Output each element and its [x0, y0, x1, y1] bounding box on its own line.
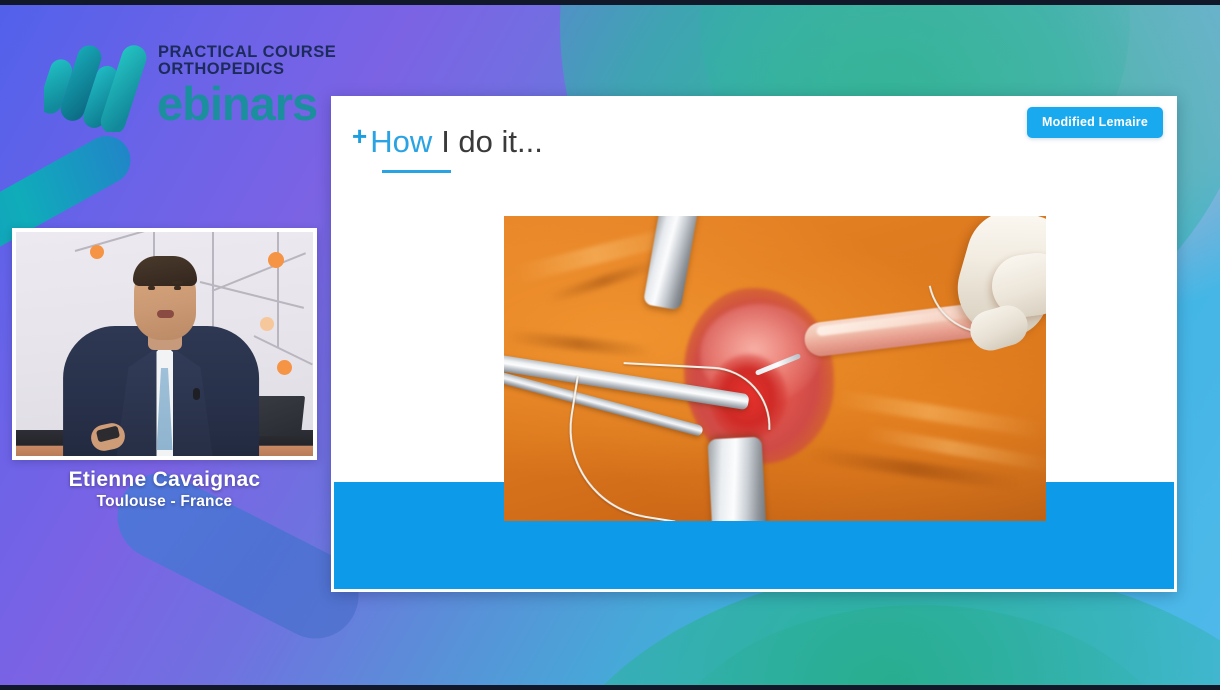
- speaker-video-feed: [16, 232, 313, 456]
- presenter-eye: [148, 286, 155, 290]
- backdrop-dot: [260, 317, 274, 331]
- status-badge: Modified Lemaire: [1027, 107, 1163, 138]
- backdrop-dot: [90, 245, 104, 259]
- presenter-brow: [146, 281, 157, 284]
- presenter-brow: [172, 281, 183, 284]
- webinar-stage: PRACTICAL COURSE ORTHOPEDICS ebinars: [0, 0, 1220, 690]
- speaker-name: Etienne Cavaignac: [12, 468, 317, 492]
- presenter-hair: [133, 256, 197, 286]
- backdrop-line: [212, 252, 306, 292]
- lapel-microphone: [193, 388, 200, 400]
- slide-title-block: + How I do it...: [352, 126, 543, 157]
- backdrop-dot: [277, 360, 292, 375]
- backdrop-line: [200, 281, 304, 309]
- slide-title-rest: I do it...: [441, 126, 543, 157]
- speaker-video-panel: [12, 228, 317, 460]
- top-letterbox-strip: [0, 0, 1220, 5]
- slide-content: + How I do it... Modified Lemaire: [334, 99, 1174, 589]
- presenter-mouth: [157, 310, 174, 318]
- retractor-bottom: [708, 437, 767, 521]
- brand-line-1: PRACTICAL COURSE: [158, 44, 338, 61]
- surgical-video: [504, 216, 1046, 521]
- brand-logo: PRACTICAL COURSE ORTHOPEDICS ebinars: [44, 26, 314, 141]
- backdrop-line: [277, 232, 279, 348]
- slide-title: + How I do it...: [352, 126, 543, 157]
- bottom-letterbox-strip: [0, 685, 1220, 690]
- speaker-location: Toulouse - France: [12, 493, 317, 511]
- backdrop-dot: [268, 252, 284, 268]
- presenter-eye: [174, 286, 181, 290]
- brand-wordmark: ebinars: [157, 80, 317, 127]
- slide-title-keyword: How: [370, 126, 432, 157]
- brand-logo-text: PRACTICAL COURSE ORTHOPEDICS: [158, 44, 338, 79]
- presentation-slide: + How I do it... Modified Lemaire: [331, 96, 1177, 592]
- w-logo-mark-icon: [44, 34, 156, 132]
- slide-title-underline: [382, 170, 451, 173]
- plus-icon: +: [352, 123, 367, 149]
- speaker-caption: Etienne Cavaignac Toulouse - France: [12, 468, 317, 511]
